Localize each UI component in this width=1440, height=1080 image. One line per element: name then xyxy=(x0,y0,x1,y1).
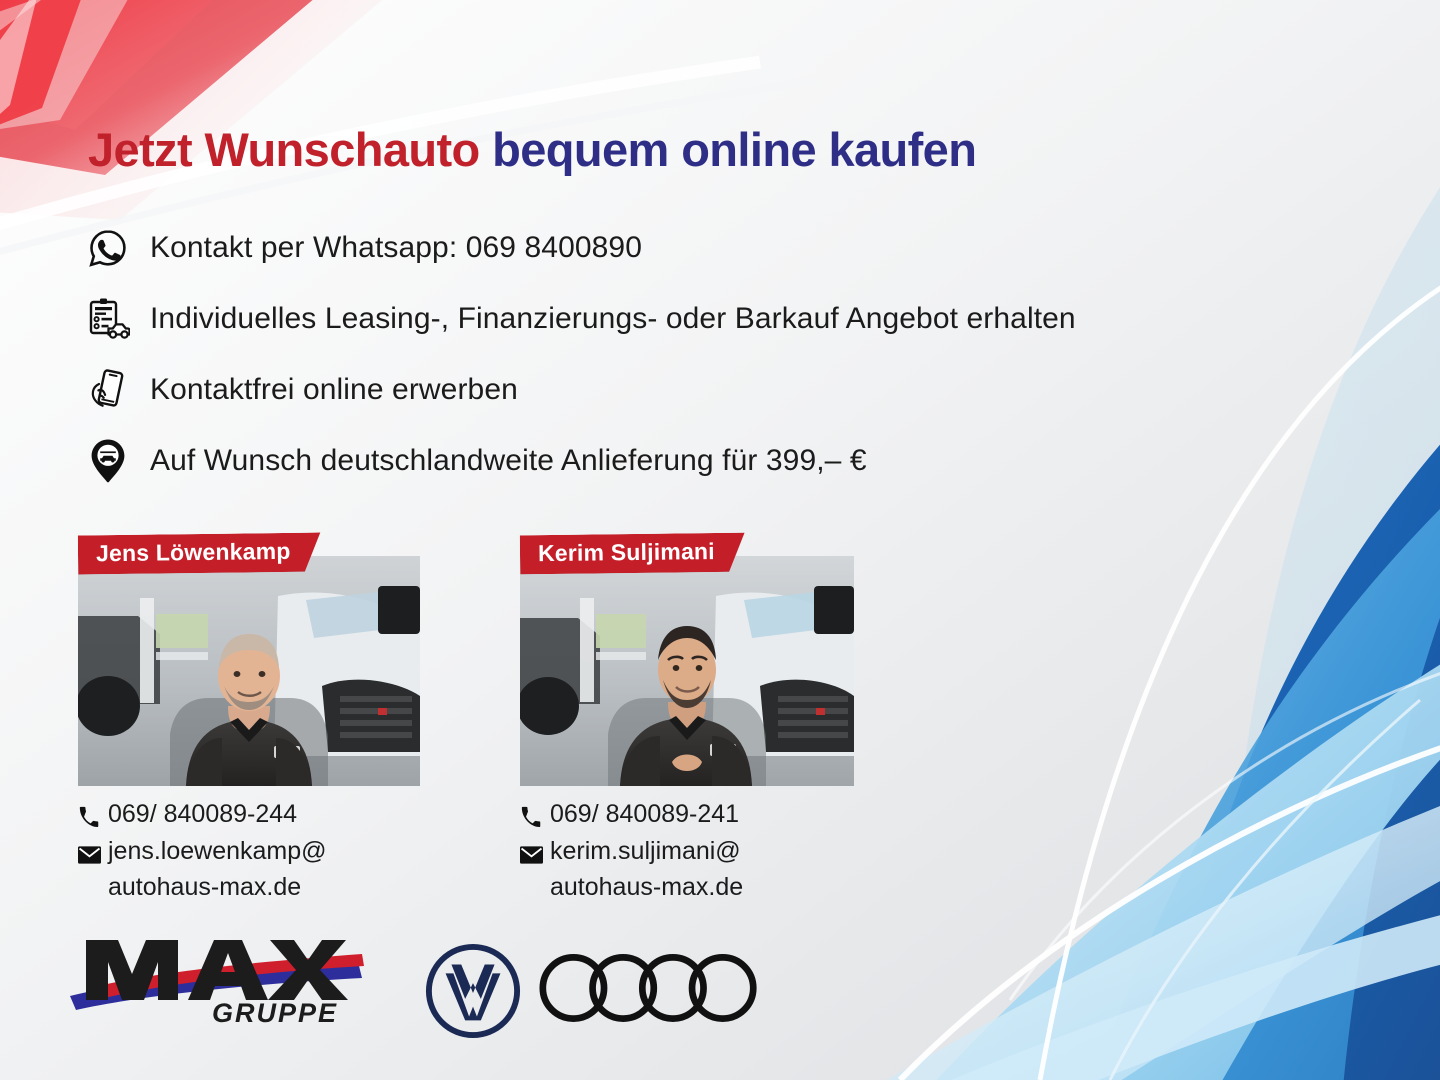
staff-email-line2: autohaus-max.de xyxy=(78,872,420,904)
promo-banner: Jetzt Wunschauto bequem online kaufen Ko… xyxy=(0,0,1440,1080)
staff-email-line1: kerim.suljimani@ xyxy=(550,836,741,868)
staff-photo xyxy=(520,556,854,786)
envelope-icon xyxy=(520,836,550,873)
list-item-label: Individuelles Leasing-, Finanzierungs- o… xyxy=(134,302,1076,336)
staff-phone: 069/ 840089-241 xyxy=(550,799,739,831)
staff-email-line2: autohaus-max.de xyxy=(520,872,854,904)
list-item-financing: Individuelles Leasing-, Finanzierungs- o… xyxy=(82,283,1362,354)
whatsapp-icon xyxy=(82,222,134,274)
list-item-whatsapp: Kontakt per Whatsapp: 069 8400890 xyxy=(82,212,1362,283)
car-location-pin-icon xyxy=(82,435,134,487)
clipboard-car-icon xyxy=(82,293,134,345)
staff-card-jens-loewenkamp: Jens Löwenkamp xyxy=(78,534,420,904)
phone-icon xyxy=(520,799,550,836)
staff-email-row[interactable]: kerim.suljimani@ xyxy=(520,836,854,873)
page-title-red: Jetzt Wunschauto xyxy=(88,123,480,176)
list-item-label: Auf Wunsch deutschlandweite Anlieferung … xyxy=(134,444,867,478)
portrait-jens-loewenkamp xyxy=(78,556,420,786)
list-item-delivery: Auf Wunsch deutschlandweite Anlieferung … xyxy=(82,425,1362,496)
hand-phone-icon xyxy=(82,364,134,416)
staff-photo xyxy=(78,556,420,786)
envelope-icon xyxy=(78,836,108,873)
staff-email-line1: jens.loewenkamp@ xyxy=(108,836,327,868)
brand-logo-row: GRUPPE xyxy=(0,930,1440,1040)
staff-name-banner: Kerim Suljimani xyxy=(520,533,745,575)
list-item-label: Kontaktfrei online erwerben xyxy=(134,373,518,407)
audi-logo xyxy=(538,944,760,1032)
staff-card-list: Jens Löwenkamp xyxy=(78,534,854,904)
max-gruppe-subtitle: GRUPPE xyxy=(212,998,338,1028)
staff-card-kerim-suljimani: Kerim Suljimani xyxy=(520,534,854,904)
list-item-label: Kontakt per Whatsapp: 069 8400890 xyxy=(134,231,642,265)
staff-contact: 069/ 840089-244 jens.loewenkamp@ autohau… xyxy=(78,799,420,904)
list-item-online-purchase: Kontaktfrei online erwerben xyxy=(82,354,1362,425)
staff-name-banner: Jens Löwenkamp xyxy=(78,533,321,575)
page-title: Jetzt Wunschauto bequem online kaufen xyxy=(88,126,976,173)
max-gruppe-logo: GRUPPE xyxy=(62,922,372,1032)
staff-phone-row[interactable]: 069/ 840089-241 xyxy=(520,799,854,836)
staff-contact: 069/ 840089-241 kerim.suljimani@ autohau… xyxy=(520,799,854,904)
volkswagen-logo xyxy=(424,942,522,1040)
staff-phone-row[interactable]: 069/ 840089-244 xyxy=(78,799,420,836)
staff-email-row[interactable]: jens.loewenkamp@ xyxy=(78,836,420,873)
benefits-list: Kontakt per Whatsapp: 069 8400890 xyxy=(82,212,1362,496)
portrait-kerim-suljimani xyxy=(520,556,854,786)
page-title-blue: bequem online kaufen xyxy=(492,123,976,176)
staff-phone: 069/ 840089-244 xyxy=(108,799,297,831)
phone-icon xyxy=(78,799,108,836)
